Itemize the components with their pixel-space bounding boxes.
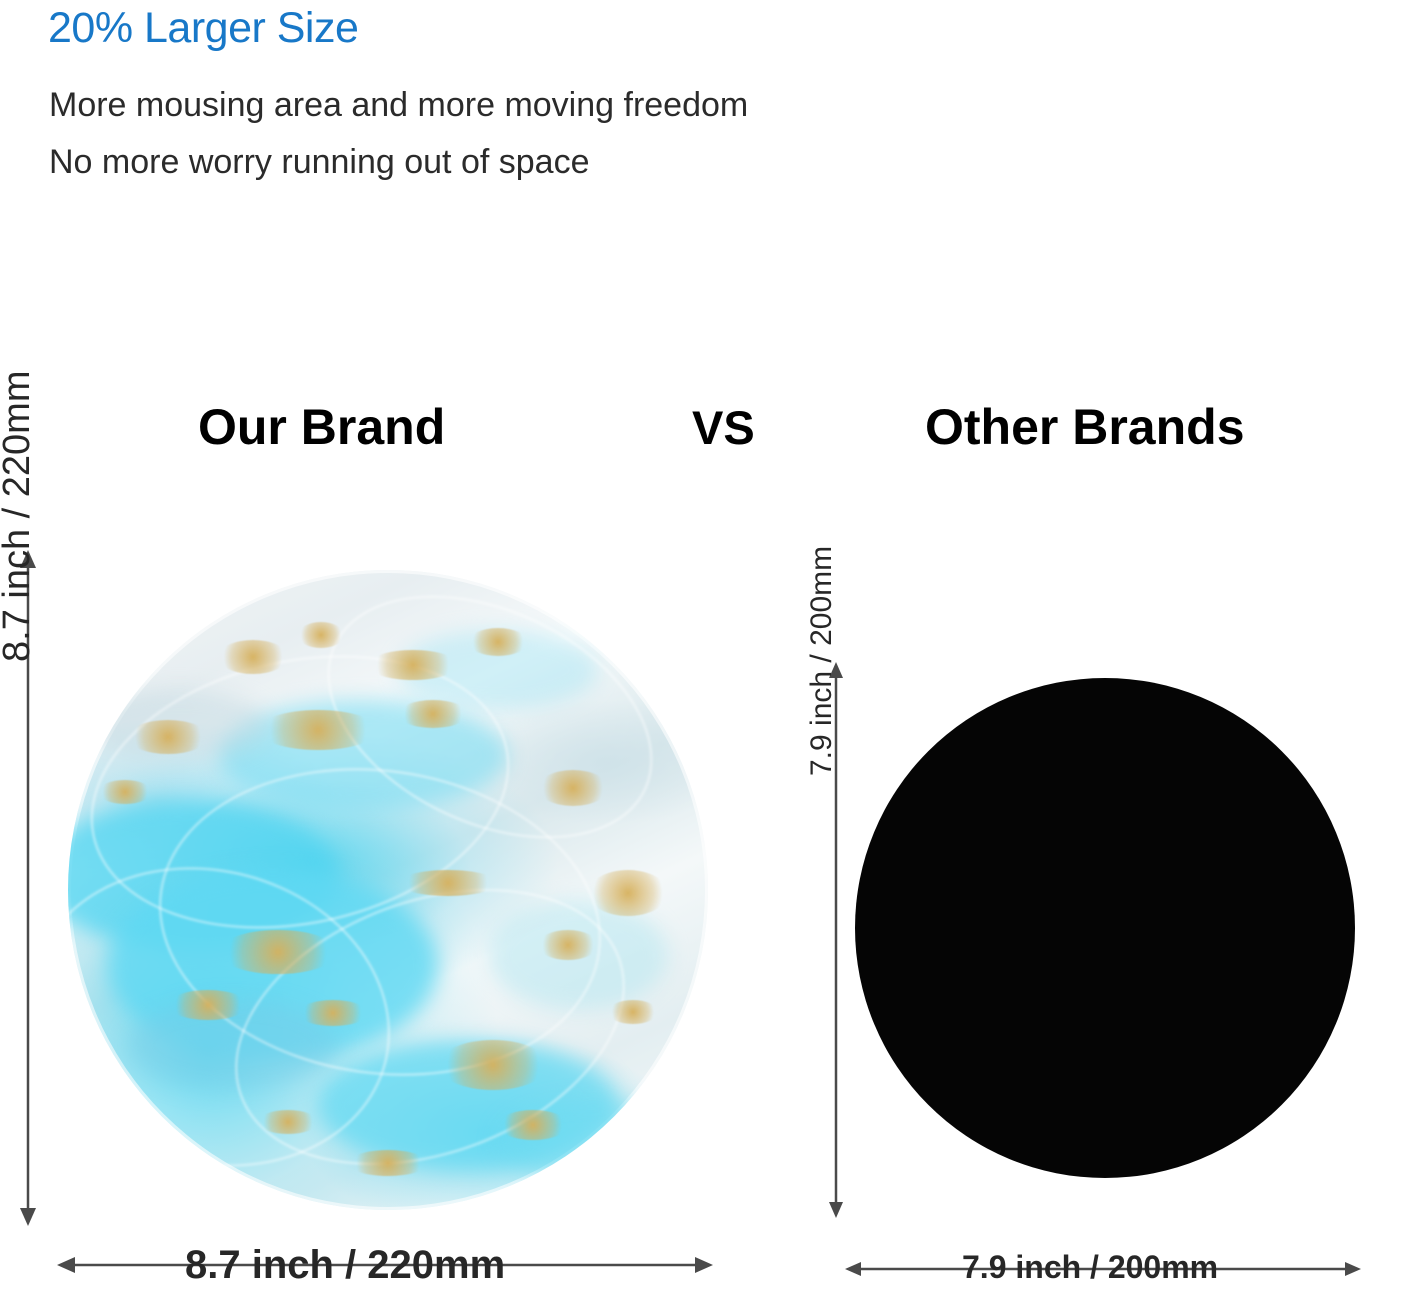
our-horizontal-dimension-text: 8.7 inch / 220mm — [185, 1243, 505, 1288]
subline-secondary: No more worry running out of space — [49, 143, 589, 182]
headline: 20% Larger Size — [48, 4, 358, 53]
our-vertical-dimension-text: 8.7 inch / 220mm — [0, 371, 39, 662]
our-brand-mousepad-image — [68, 570, 708, 1210]
subline-primary: More mousing area and more moving freedo… — [49, 86, 748, 125]
other-brand-mousepad-image — [855, 678, 1355, 1178]
our-brand-label: Our Brand — [198, 398, 445, 456]
other-vertical-dimension-text: 7.9 inch / 200mm — [805, 546, 839, 776]
other-horizontal-dimension-text: 7.9 inch / 200mm — [962, 1249, 1218, 1286]
other-brands-label: Other Brands — [925, 398, 1245, 456]
vs-label: VS — [692, 400, 755, 455]
